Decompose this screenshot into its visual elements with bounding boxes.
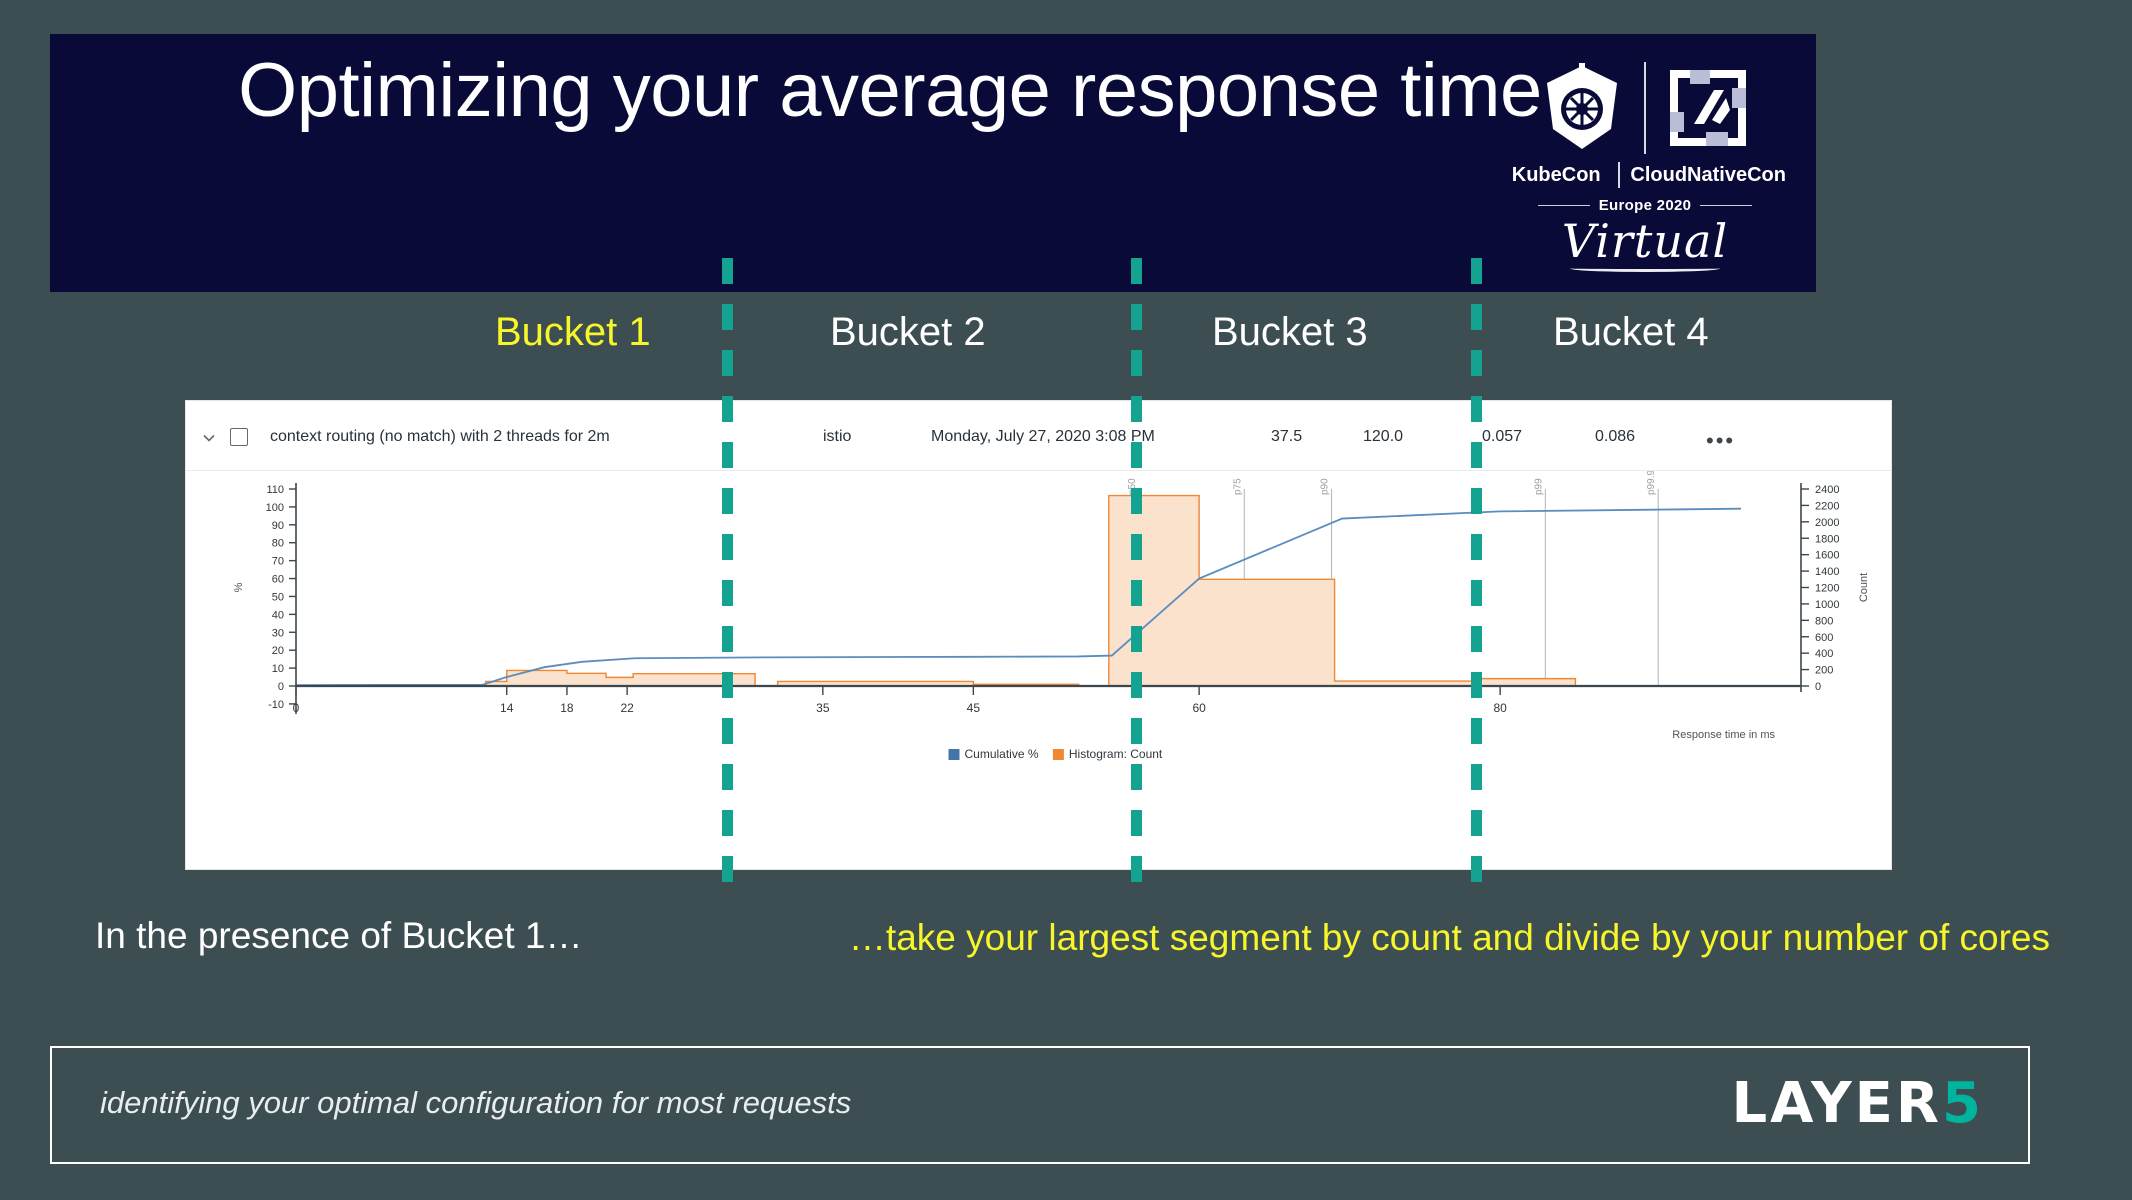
logo-names: KubeCon CloudNativeCon xyxy=(1500,162,1790,188)
svg-text:110: 110 xyxy=(266,484,284,496)
svg-text:0: 0 xyxy=(1815,681,1821,693)
test-name-cell: context routing (no match) with 2 thread… xyxy=(270,428,610,446)
svg-text:p99: p99 xyxy=(1533,478,1544,495)
footer-caption: identifying your optimal configuration f… xyxy=(100,1085,851,1121)
footer-bar: identifying your optimal configuration f… xyxy=(50,1046,2030,1164)
svg-text:70: 70 xyxy=(272,556,284,568)
svg-text:1400: 1400 xyxy=(1815,566,1839,578)
svg-text:35: 35 xyxy=(816,701,830,715)
svg-text:1200: 1200 xyxy=(1815,583,1839,595)
svg-text:Cumulative %: Cumulative % xyxy=(965,747,1039,761)
svg-text:1600: 1600 xyxy=(1815,550,1839,562)
bucket-label-3: Bucket 3 xyxy=(1212,310,1368,355)
logo-virtual-script: Virtual xyxy=(1500,218,1790,264)
svg-text:14: 14 xyxy=(500,701,514,715)
metric-cell-1: 37.5 xyxy=(1271,428,1302,446)
svg-text:p99.9: p99.9 xyxy=(1646,471,1657,495)
svg-text:0: 0 xyxy=(278,681,284,693)
svg-text:80: 80 xyxy=(272,538,284,550)
caption-left: In the presence of Bucket 1… xyxy=(95,915,755,957)
row-checkbox[interactable] xyxy=(230,428,248,446)
cloudnativecon-wordmark: CloudNativeCon xyxy=(1626,164,1790,187)
bucket-label-1: Bucket 1 xyxy=(495,310,651,355)
timestamp-cell: Monday, July 27, 2020 3:08 PM xyxy=(931,428,1155,446)
result-row-header[interactable]: context routing (no match) with 2 thread… xyxy=(186,401,1891,471)
caption-right: …take your largest segment by count and … xyxy=(790,915,2050,962)
svg-text:1000: 1000 xyxy=(1815,599,1839,611)
svg-text:18: 18 xyxy=(560,701,574,715)
wordmark-divider xyxy=(1618,162,1620,188)
page-title: Optimizing your average response time xyxy=(110,52,1670,130)
svg-text:2400: 2400 xyxy=(1815,484,1839,496)
svg-text:800: 800 xyxy=(1815,615,1833,627)
svg-text:Response time in ms: Response time in ms xyxy=(1672,729,1775,741)
svg-text:-10: -10 xyxy=(268,699,284,711)
svg-text:10: 10 xyxy=(272,663,284,675)
kubecon-wordmark: KubeCon xyxy=(1500,164,1612,187)
kubecon-cloudnativecon-logo: KubeCon CloudNativeCon Europe 2020 Virtu… xyxy=(1500,56,1790,266)
title-band: Optimizing your average response time xyxy=(50,34,1816,292)
logo-edition-row: Europe 2020 xyxy=(1500,197,1790,214)
svg-text:p50: p50 xyxy=(1127,478,1138,495)
svg-text:Histogram: Count: Histogram: Count xyxy=(1069,747,1163,761)
layer5-digit: 5 xyxy=(1942,1071,1984,1136)
bucket-label-2: Bucket 2 xyxy=(830,310,986,355)
svg-text:2000: 2000 xyxy=(1815,517,1839,529)
svg-text:20: 20 xyxy=(272,645,284,657)
metric-cell-3: 0.057 xyxy=(1482,428,1522,446)
layer5-wordmark: LAYER xyxy=(1731,1071,1942,1136)
chevron-down-icon[interactable] xyxy=(202,431,216,445)
svg-text:80: 80 xyxy=(1493,701,1507,715)
svg-text:60: 60 xyxy=(272,574,284,586)
overflow-menu-icon[interactable]: ••• xyxy=(1706,428,1735,454)
logo-divider xyxy=(1644,62,1646,154)
metric-cell-2: 120.0 xyxy=(1363,428,1403,446)
layer5-logo: LAYER5 xyxy=(1731,1076,1984,1132)
svg-text:1800: 1800 xyxy=(1815,533,1839,545)
svg-text:22: 22 xyxy=(620,701,634,715)
svg-text:400: 400 xyxy=(1815,648,1833,660)
svg-text:60: 60 xyxy=(1192,701,1206,715)
svg-text:100: 100 xyxy=(266,502,284,514)
svg-text:40: 40 xyxy=(272,609,284,621)
cloud-native-icon xyxy=(1656,68,1760,148)
svg-text:30: 30 xyxy=(272,627,284,639)
svg-text:2200: 2200 xyxy=(1815,500,1839,512)
kubernetes-helm-icon xyxy=(1530,63,1634,153)
svg-text:p75: p75 xyxy=(1232,478,1243,495)
logo-swoosh xyxy=(1570,265,1720,272)
svg-text:45: 45 xyxy=(967,701,981,715)
svg-text:50: 50 xyxy=(272,591,284,603)
rule-right xyxy=(1700,205,1752,206)
svg-text:600: 600 xyxy=(1815,632,1833,644)
bucket-label-4: Bucket 4 xyxy=(1553,310,1709,355)
svg-text:%: % xyxy=(233,582,245,592)
logo-marks xyxy=(1500,56,1790,160)
logo-edition: Europe 2020 xyxy=(1599,197,1692,214)
svg-text:90: 90 xyxy=(272,520,284,532)
metric-cell-4: 0.086 xyxy=(1595,428,1635,446)
svg-text:Count: Count xyxy=(1858,573,1870,602)
chart-svg: p50p75p90p99p99.9-1001020304050607080901… xyxy=(186,471,1891,870)
histogram-chart: p50p75p90p99p99.9-1001020304050607080901… xyxy=(186,471,1891,870)
svg-text:0: 0 xyxy=(293,701,300,715)
svg-text:200: 200 xyxy=(1815,665,1833,677)
mesh-cell: istio xyxy=(823,428,851,446)
benchmark-result-panel: context routing (no match) with 2 thread… xyxy=(185,400,1892,870)
rule-left xyxy=(1538,205,1590,206)
svg-text:p90: p90 xyxy=(1320,478,1331,495)
